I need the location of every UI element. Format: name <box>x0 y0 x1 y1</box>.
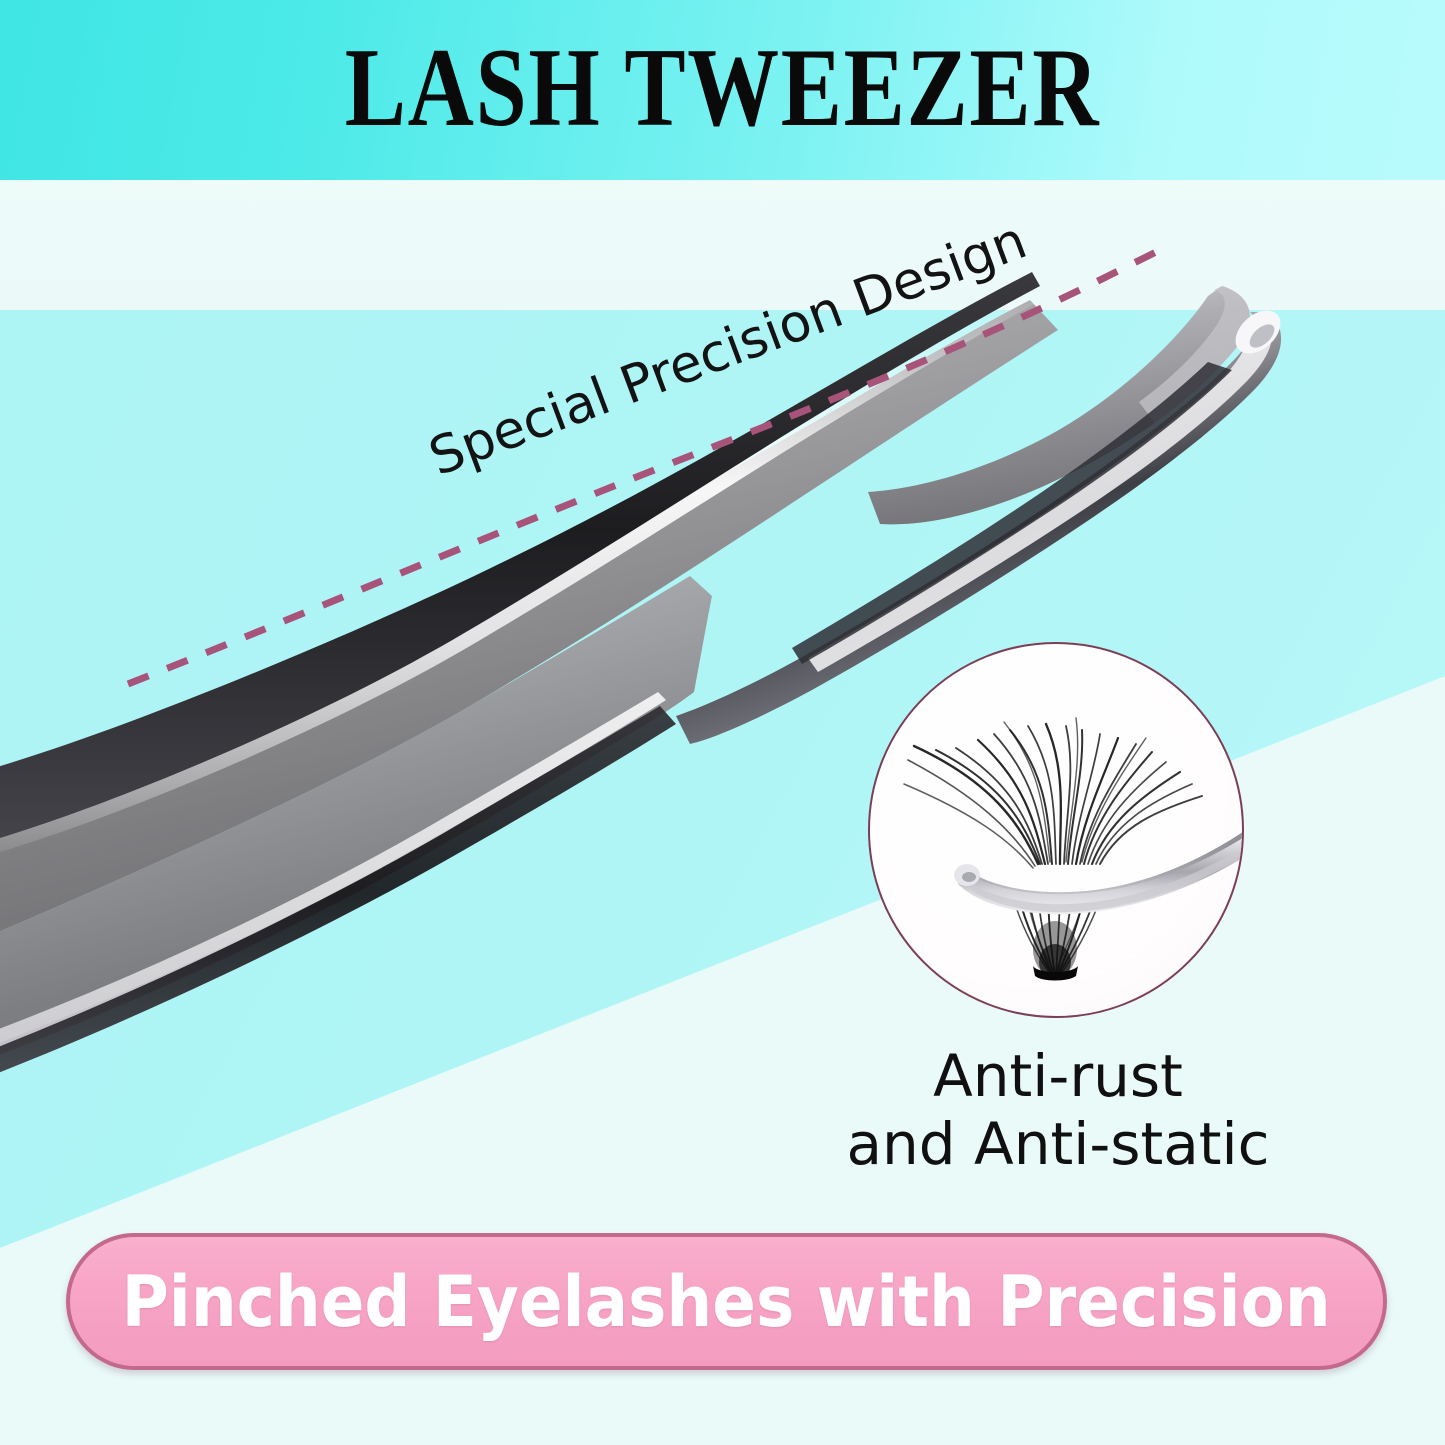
lash-closeup-inset <box>868 642 1244 1018</box>
tweezer-illustration <box>0 0 1445 1445</box>
footer-banner-text: Pinched Eyelashes with Precision <box>122 1261 1331 1343</box>
header-band: LASH TWEEZER <box>0 0 1445 180</box>
inset-caption: Anti-rust and Anti-static <box>808 1042 1308 1179</box>
footer-banner: Pinched Eyelashes with Precision <box>66 1233 1387 1370</box>
inset-caption-line-2: and Anti-static <box>808 1110 1308 1178</box>
inset-caption-line-1: Anti-rust <box>808 1042 1308 1110</box>
product-marketing-image: Special Precision Design <box>0 0 1445 1445</box>
page-title: LASH TWEEZER <box>130 28 1315 149</box>
lash-fan-graphic <box>870 644 1244 1018</box>
